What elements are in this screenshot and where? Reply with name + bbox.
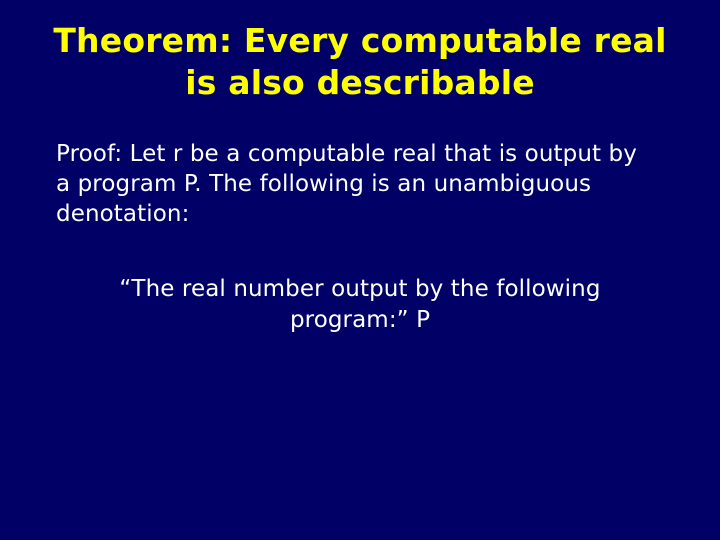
quotation-block: “The real number output by the following…	[60, 274, 660, 336]
proof-paragraph: Proof: Let r be a computable real that i…	[56, 139, 656, 229]
presentation-slide: Theorem: Every computable real is also d…	[0, 0, 720, 540]
slide-title: Theorem: Every computable real is also d…	[36, 20, 684, 104]
denotation-quote: “The real number output by the following…	[60, 274, 660, 336]
proof-body: Proof: Let r be a computable real that i…	[56, 139, 656, 229]
